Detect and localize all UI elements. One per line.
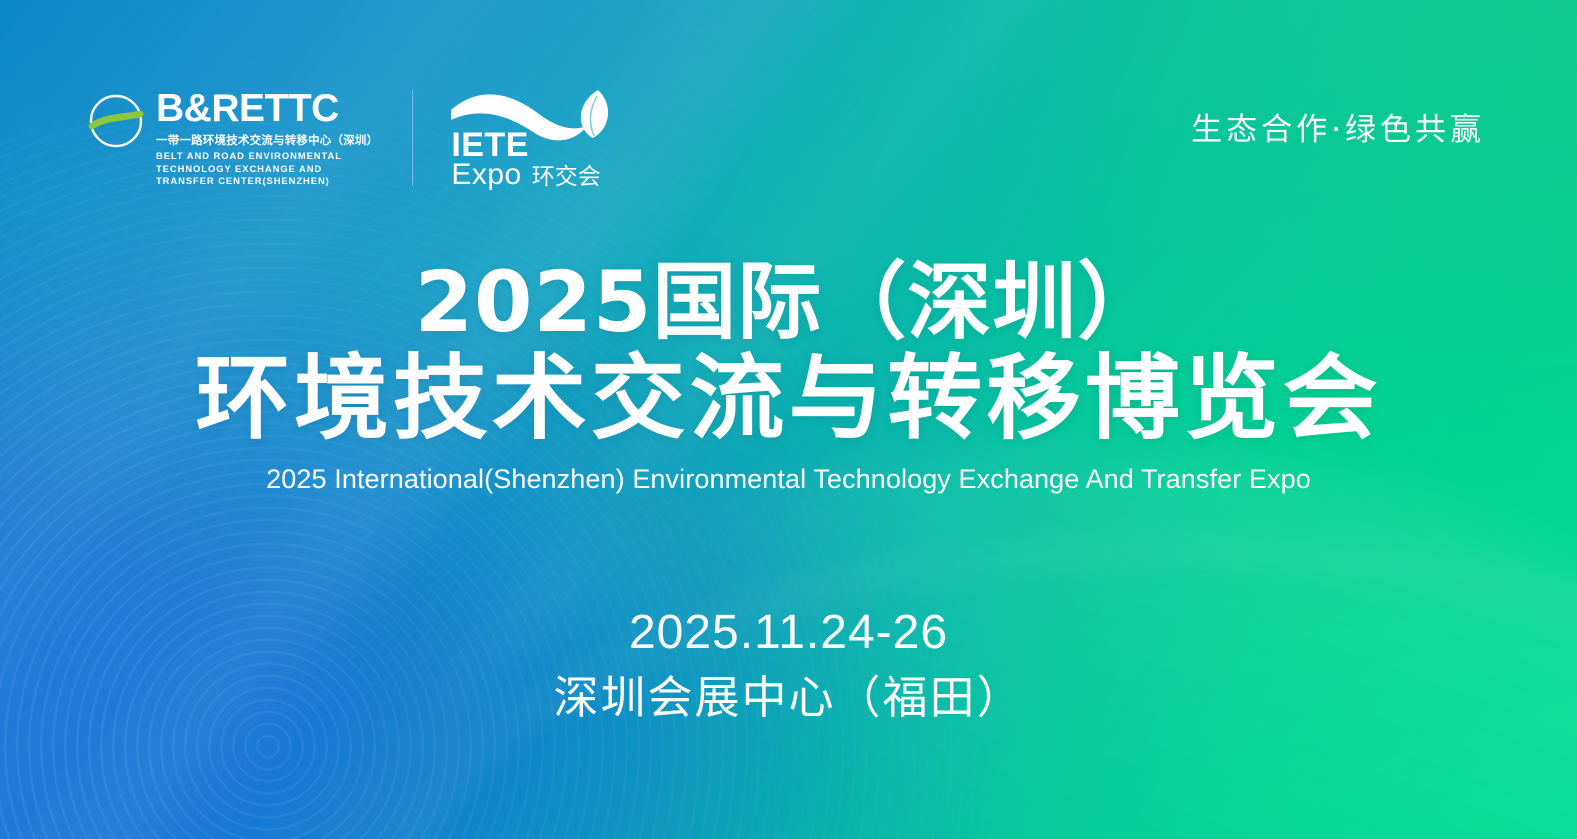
globe-circle-icon [88, 93, 144, 149]
brettc-logo[interactable]: B&RETTC 一带一路环境技术交流与转移中心（深圳） BELT AND ROA… [88, 88, 378, 187]
logo-group: B&RETTC 一带一路环境技术交流与转移中心（深圳） BELT AND ROA… [88, 88, 613, 192]
banner-header: B&RETTC 一带一路环境技术交流与转移中心（深圳） BELT AND ROA… [0, 0, 1577, 210]
title-block: 2025国际（深圳） 环境技术交流与转移博览会 2025 Internation… [0, 258, 1577, 495]
title-line-2: 环境技术交流与转移博览会 [0, 349, 1577, 448]
event-banner: B&RETTC 一带一路环境技术交流与转移中心（深圳） BELT AND ROA… [0, 0, 1577, 839]
iete-expo-word: Expo [451, 160, 521, 190]
brettc-chinese-name: 一带一路环境技术交流与转移中心（深圳） [156, 133, 378, 148]
event-date: 2025.11.24-26 [0, 604, 1577, 662]
iete-subtitle-row: Expo 环交会 [451, 160, 600, 190]
event-venue: 深圳会展中心（福田） [0, 670, 1577, 726]
event-meta-block: 2025.11.24-26 深圳会展中心（福田） [0, 604, 1577, 726]
iete-chinese-short: 环交会 [532, 166, 601, 189]
iete-expo-logo[interactable]: IETE Expo 环交会 [447, 88, 613, 192]
iete-acronym: IETE [451, 128, 529, 162]
title-line-1: 2025国际（深圳） [0, 258, 1577, 347]
event-slogan: 生态合作·绿色共赢 [1191, 104, 1485, 149]
brettc-english-name: BELT AND ROAD ENVIRONMENTAL TECHNOLOGY E… [156, 150, 368, 187]
logo-divider [412, 90, 413, 186]
title-english-subtitle: 2025 International(Shenzhen) Environment… [0, 464, 1577, 495]
brettc-text-block: B&RETTC 一带一路环境技术交流与转移中心（深圳） BELT AND ROA… [156, 90, 378, 187]
brettc-wordmark: B&RETTC [156, 90, 378, 128]
